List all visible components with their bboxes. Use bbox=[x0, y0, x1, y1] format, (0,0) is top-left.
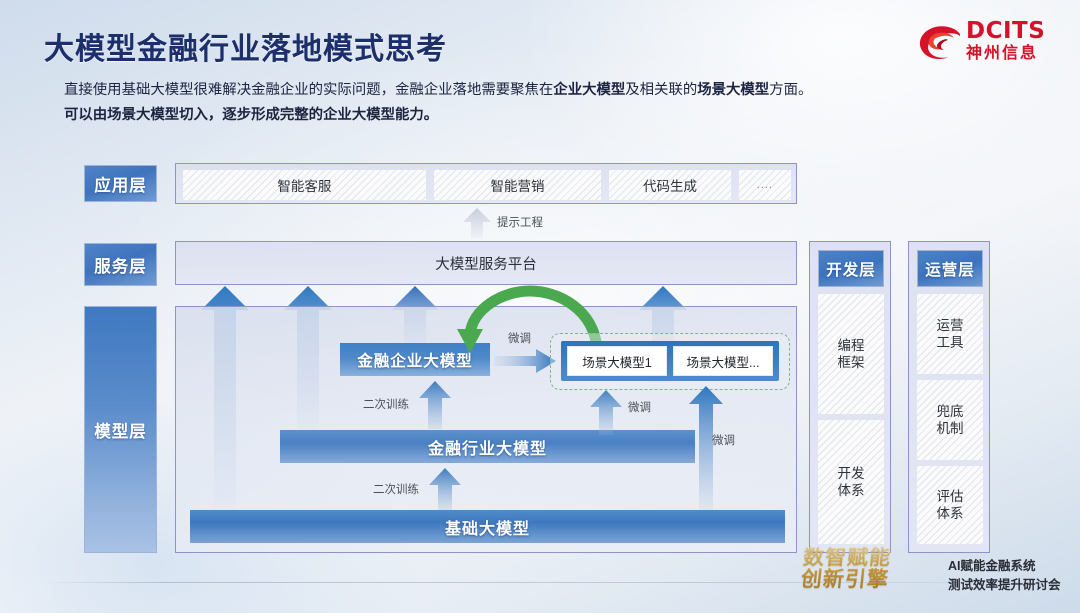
ops-cell-1-line-2: 工具 bbox=[937, 334, 964, 351]
app-box-more[interactable]: .... bbox=[739, 170, 791, 200]
ops-layer-title-label: 运营层 bbox=[925, 258, 975, 280]
subtitle-emphasis-enterprise: 企业大模型 bbox=[553, 82, 625, 98]
scene-models-tray: 场景大模型1 场景大模型... bbox=[561, 341, 779, 381]
logo-cn-text: 神州信息 bbox=[966, 46, 1045, 62]
app-box-more-label: .... bbox=[757, 179, 773, 191]
layer-tag-service[interactable]: 服务层 bbox=[84, 243, 157, 286]
ops-cell-2-line-1: 兜底 bbox=[937, 403, 964, 420]
layer-tag-application-label: 应用层 bbox=[94, 172, 147, 196]
label-second-training-2: 二次训练 bbox=[373, 481, 419, 497]
dev-cell-1-line-1: 编程 bbox=[838, 337, 865, 354]
subtitle-emphasis-scene: 场景大模型 bbox=[697, 82, 769, 98]
watermark-text-line-1: AI赋能金融系统 bbox=[948, 557, 1061, 576]
label-fine-tune-3: 微调 bbox=[712, 432, 735, 448]
subtitle-part-1: 直接使用基础大模型很难解决金融企业的实际问题，金融企业落地需要聚焦在 bbox=[64, 82, 553, 98]
dev-cell-2-line-2: 体系 bbox=[838, 482, 865, 499]
dev-layer-panel: 开发层 编程 框架 开发 体系 bbox=[809, 241, 891, 553]
application-layer-panel: 智能客服 智能营销 代码生成 .... bbox=[175, 163, 797, 204]
label-fine-tune-2: 微调 bbox=[628, 399, 651, 415]
dev-cell-2-line-1: 开发 bbox=[838, 465, 865, 482]
second-training-arrow-1-icon bbox=[418, 381, 452, 429]
watermark-gold-text: 数智赋能 创新引擎 bbox=[800, 547, 945, 591]
dev-layer-title-label: 开发层 bbox=[826, 258, 876, 280]
app-box-code-generation-label: 代码生成 bbox=[643, 175, 697, 195]
service-platform-label: 大模型服务平台 bbox=[435, 253, 537, 274]
ops-layer-title[interactable]: 运营层 bbox=[917, 250, 983, 287]
ops-cell-operation-tools[interactable]: 运营 工具 bbox=[917, 294, 983, 374]
watermark-event-text: AI赋能金融系统 测试效率提升研讨会 bbox=[948, 557, 1061, 596]
industry-model-box[interactable]: 金融行业大模型 bbox=[280, 430, 695, 463]
ops-cell-3-line-1: 评估 bbox=[937, 488, 964, 505]
scene-model-box-1[interactable]: 场景大模型1 bbox=[567, 346, 667, 376]
brand-logo: DCITS 神州信息 bbox=[916, 18, 1066, 74]
app-box-intelligent-service[interactable]: 智能客服 bbox=[183, 170, 426, 200]
ops-cell-1-line-1: 运营 bbox=[937, 317, 964, 334]
app-box-code-generation[interactable]: 代码生成 bbox=[609, 170, 730, 200]
page-subtitle: 直接使用基础大模型很难解决金融企业的实际问题，金融企业落地需要聚焦在企业大模型及… bbox=[64, 78, 964, 128]
ops-cell-fallback-mechanism[interactable]: 兜底 机制 bbox=[917, 380, 983, 460]
subtitle-part-2: 及相关联的 bbox=[625, 82, 697, 98]
ops-cell-3-line-2: 体系 bbox=[937, 505, 964, 522]
logo-text: DCITS 神州信息 bbox=[966, 20, 1045, 62]
service-platform-box[interactable]: 大模型服务平台 bbox=[176, 242, 796, 284]
dev-cell-1-line-2: 框架 bbox=[838, 354, 865, 371]
service-layer-panel: 大模型服务平台 bbox=[175, 241, 797, 285]
layer-tag-service-label: 服务层 bbox=[94, 253, 147, 277]
label-prompt-engineering: 提示工程 bbox=[497, 214, 543, 230]
app-box-intelligent-marketing[interactable]: 智能营销 bbox=[434, 170, 602, 200]
event-watermark: 数智赋能 创新引擎 AI赋能金融系统 测试效率提升研讨会 bbox=[802, 545, 1074, 609]
second-training-arrow-2-icon bbox=[428, 468, 462, 510]
layer-tag-model-label: 模型层 bbox=[94, 418, 147, 442]
subtitle-part-3: 方面。 bbox=[769, 82, 812, 98]
scene-model-box-2[interactable]: 场景大模型... bbox=[673, 346, 773, 376]
prompt-engineering-arrow-icon bbox=[460, 207, 494, 239]
fine-tune-arrow-3-icon bbox=[688, 386, 724, 510]
dev-cell-programming-framework[interactable]: 编程 框架 bbox=[818, 294, 884, 414]
app-box-intelligent-marketing-label: 智能营销 bbox=[491, 175, 545, 195]
base-model-label: 基础大模型 bbox=[445, 515, 530, 539]
watermark-gold-line-1: 数智赋能 bbox=[802, 547, 944, 569]
ops-layer-panel: 运营层 运营 工具 兜底 机制 评估 体系 bbox=[908, 241, 990, 553]
layer-tag-application[interactable]: 应用层 bbox=[84, 165, 157, 202]
fine-tune-arrow-2-icon bbox=[589, 390, 623, 435]
logo-en-text: DCITS bbox=[966, 20, 1045, 43]
watermark-gold-line-2: 创新引擎 bbox=[800, 569, 942, 591]
label-second-training-1: 二次训练 bbox=[363, 396, 409, 412]
layer-tag-model[interactable]: 模型层 bbox=[84, 306, 157, 553]
base-model-box[interactable]: 基础大模型 bbox=[190, 510, 785, 543]
scene-model-box-1-label: 场景大模型1 bbox=[582, 352, 651, 371]
ops-cell-2-line-2: 机制 bbox=[937, 420, 964, 437]
app-box-intelligent-service-label: 智能客服 bbox=[277, 175, 331, 195]
industry-model-label: 金融行业大模型 bbox=[428, 435, 547, 459]
subtitle-line-2: 可以由场景大模型切入，逐步形成完整的企业大模型能力。 bbox=[64, 103, 964, 128]
watermark-text-line-2: 测试效率提升研讨会 bbox=[948, 576, 1061, 595]
page-title: 大模型金融行业落地模式思考 bbox=[44, 24, 447, 68]
slide-canvas: 大模型金融行业落地模式思考 直接使用基础大模型很难解决金融企业的实际问题，金融企… bbox=[0, 0, 1080, 613]
ops-cell-evaluation-system[interactable]: 评估 体系 bbox=[917, 466, 983, 544]
dcits-swirl-icon bbox=[916, 22, 964, 66]
scene-model-box-2-label: 场景大模型... bbox=[687, 352, 760, 371]
dev-cell-dev-system[interactable]: 开发 体系 bbox=[818, 420, 884, 544]
dev-layer-title[interactable]: 开发层 bbox=[818, 250, 884, 287]
